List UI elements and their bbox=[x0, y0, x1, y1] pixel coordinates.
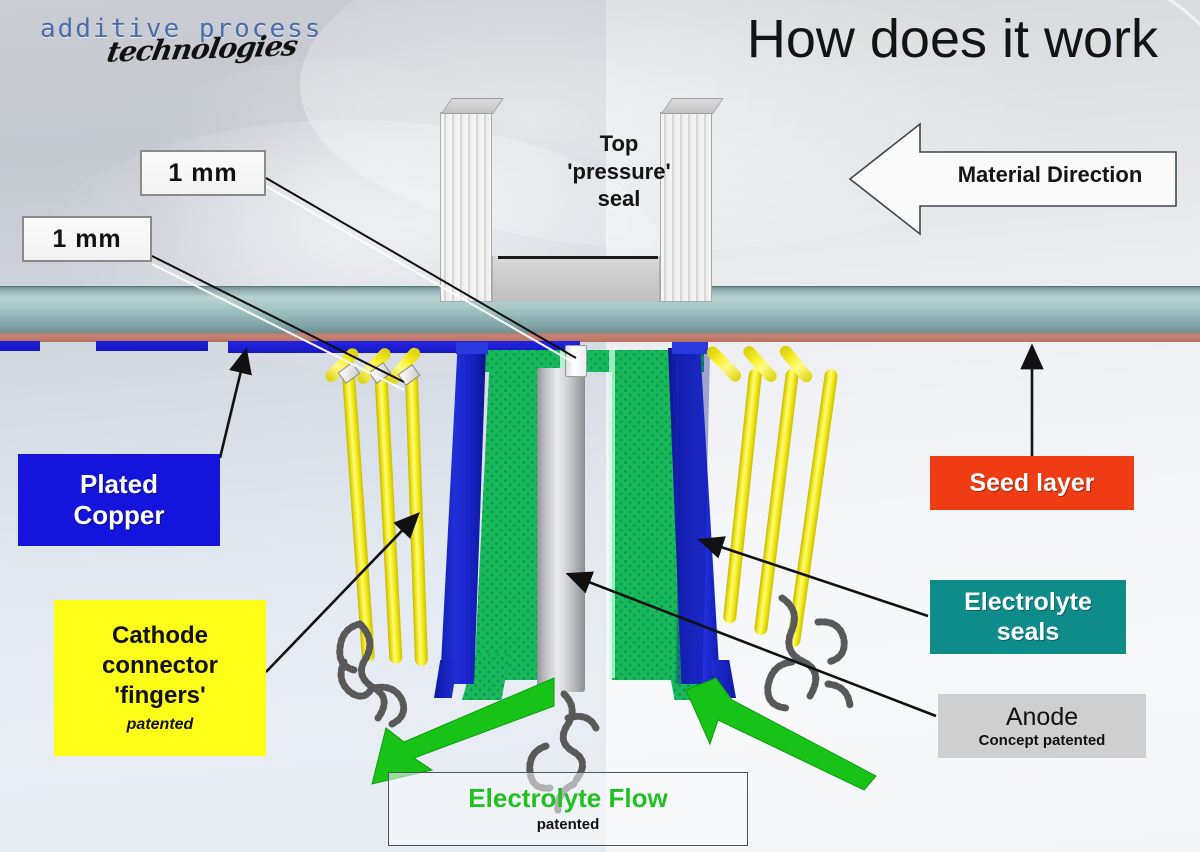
legend-electrolyte-flow-text: Electrolyte Flow bbox=[468, 784, 667, 813]
anode-top-cap bbox=[565, 345, 587, 377]
electrolyte-squiggle-left bbox=[330, 610, 450, 740]
company-logo: additive process technologies bbox=[40, 14, 322, 65]
logo-script-text: technologies bbox=[104, 28, 326, 68]
legend-cathode-line2: connector bbox=[102, 651, 218, 681]
legend-electrolyte-flow: Electrolyte Flow patented bbox=[388, 772, 748, 846]
legend-cathode-line3: 'fingers' bbox=[114, 681, 205, 711]
legend-electrolyte-flow-patented: patented bbox=[537, 817, 600, 834]
legend-electrolyte-seals-line1: Electrolyte bbox=[964, 587, 1092, 617]
legend-cathode-line1: Cathode bbox=[112, 621, 208, 651]
electrolyte-squiggle-right bbox=[756, 588, 886, 738]
material-direction-arrow: Material Direction bbox=[848, 118, 1178, 240]
legend-anode-text: Anode bbox=[1006, 704, 1078, 730]
legend-anode: Anode Concept patented bbox=[938, 694, 1146, 758]
legend-seed-layer-text: Seed layer bbox=[969, 469, 1094, 498]
pressure-seal-base bbox=[492, 256, 660, 302]
legend-seed-layer: Seed layer bbox=[930, 456, 1134, 510]
pressure-seal-base-line bbox=[498, 256, 658, 259]
legend-cathode-patented: patented bbox=[127, 715, 194, 735]
callout-1mm-top: 1 mm bbox=[140, 150, 266, 196]
diagram-canvas: additive process technologies How does i… bbox=[0, 0, 1200, 852]
anode-cylinder bbox=[537, 368, 585, 692]
legend-anode-concept-patented: Concept patented bbox=[979, 733, 1106, 749]
legend-plated-copper-line1: Plated bbox=[80, 469, 158, 500]
electrolyte-highlight-right bbox=[609, 350, 615, 678]
pressure-seal-column-left bbox=[440, 112, 492, 302]
legend-electrolyte-seals: Electrolyte seals bbox=[930, 580, 1126, 654]
pressure-seal-label-line2: 'pressure' bbox=[534, 158, 704, 186]
legend-plated-copper: Plated Copper bbox=[18, 454, 220, 546]
legend-cathode-fingers: Cathode connector 'fingers' patented bbox=[54, 600, 266, 756]
callout-1mm-bottom: 1 mm bbox=[22, 216, 152, 262]
page-title: How does it work bbox=[747, 8, 1158, 70]
pressure-seal-label-line1: Top bbox=[534, 130, 704, 158]
legend-plated-copper-line2: Copper bbox=[74, 500, 165, 531]
electrolyte-seal-right-cap bbox=[672, 342, 708, 354]
pressure-seal-column-right-top bbox=[661, 98, 724, 114]
plated-copper-strip-1 bbox=[0, 341, 40, 351]
pressure-seal-label-line3: seal bbox=[534, 185, 704, 213]
electrolyte-seal-left-cap bbox=[456, 342, 488, 354]
pressure-seal-label: Top 'pressure' seal bbox=[534, 130, 704, 213]
material-direction-label: Material Direction bbox=[926, 162, 1174, 188]
legend-electrolyte-seals-line2: seals bbox=[997, 617, 1060, 647]
plated-copper-strip-2 bbox=[96, 341, 208, 351]
pressure-seal-column-left-top bbox=[441, 98, 504, 114]
